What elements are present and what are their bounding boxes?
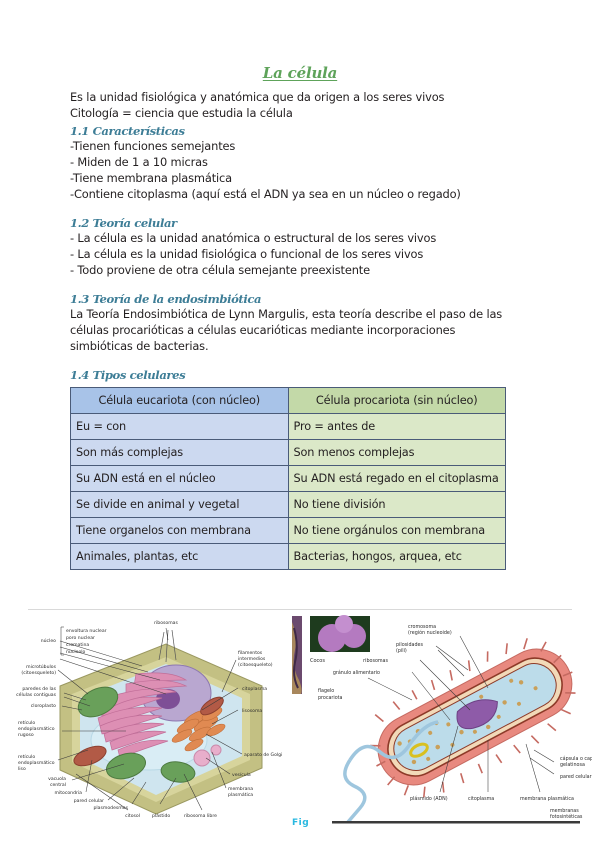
label-cocos: Cocos	[310, 658, 325, 664]
svg-text:procariota: procariota	[318, 695, 343, 701]
section-1-3-paragraph: La Teoría Endosimbiótica de Lynn Marguli…	[70, 306, 518, 355]
section-1-1-line-2: - Miden de 1 a 10 micras	[70, 154, 530, 170]
bacterium-body	[353, 620, 592, 815]
figure-divider-rule	[28, 609, 572, 610]
table-row: Son más complejas Son menos complejas	[71, 439, 506, 465]
svg-text:vacuola: vacuola	[48, 776, 66, 782]
section-heading-1-3: 1.3 Teoría de la endosimbiótica	[70, 292, 530, 306]
table-header-row: Célula eucariota (con núcleo) Célula pro…	[71, 387, 506, 413]
svg-text:(citoesqueleto): (citoesqueleto)	[238, 662, 273, 668]
table-row: Se divide en animal y vegetal No tiene d…	[71, 491, 506, 517]
svg-text:membrana: membrana	[228, 786, 253, 792]
table-cell-eukaryote: Animales, plantas, etc	[71, 543, 289, 569]
svg-text:células contiguas: células contiguas	[16, 691, 56, 698]
section-1-1-line-1: -Tienen funciones semejantes	[70, 138, 530, 154]
table-cell-prokaryote: Son menos complejas	[288, 439, 506, 465]
svg-text:envoltura nuclear: envoltura nuclear	[66, 628, 107, 634]
svg-text:rugoso: rugoso	[18, 732, 34, 738]
intro-line-2: Citología = ciencia que estudia la célul…	[70, 105, 530, 121]
svg-text:citoplasma: citoplasma	[242, 686, 267, 692]
table-cell-prokaryote: Pro = antes de	[288, 413, 506, 439]
vesicle-shape	[194, 750, 210, 766]
table-header-eukaryote: Célula eucariota (con núcleo)	[71, 387, 289, 413]
svg-text:retículo: retículo	[18, 719, 35, 726]
table-row: Eu = con Pro = antes de	[71, 413, 506, 439]
svg-text:microtúbulos: microtúbulos	[26, 663, 57, 670]
table-cell-prokaryote: Bacterias, hongos, arquea, etc	[288, 543, 506, 569]
section-1-2-line-3: - Todo proviene de otra célula semejante…	[70, 262, 530, 278]
svg-text:filamentos: filamentos	[238, 650, 263, 656]
svg-text:pared celular: pared celular	[74, 798, 104, 804]
svg-text:gránulo alimentario: gránulo alimentario	[333, 669, 380, 676]
table-cell-eukaryote: Su ADN está en el núcleo	[71, 465, 289, 491]
svg-text:pared celular: pared celular	[560, 774, 592, 780]
svg-text:citoplasma: citoplasma	[468, 796, 494, 802]
svg-text:central: central	[50, 782, 66, 788]
svg-text:plasmática: plasmática	[228, 791, 253, 798]
section-1-2-line-1: - La célula es la unidad anatómica o est…	[70, 230, 530, 246]
svg-text:fotosintéticas: fotosintéticas	[550, 813, 583, 820]
svg-text:(región nucleoide): (región nucleoide)	[408, 629, 452, 636]
section-heading-1-1: 1.1 Características	[70, 124, 530, 138]
table-cell-eukaryote: Son más complejas	[71, 439, 289, 465]
table-cell-eukaryote: Eu = con	[71, 413, 289, 439]
svg-text:liso: liso	[18, 766, 26, 772]
svg-text:aparato de Golgi: aparato de Golgi	[244, 752, 282, 758]
svg-text:nucleolo: nucleolo	[66, 649, 86, 655]
svg-text:cromosoma: cromosoma	[408, 624, 436, 630]
svg-text:plásmido (ADN): plásmido (ADN)	[410, 795, 448, 802]
label-nucleo: núcleo	[41, 637, 56, 644]
table-row: Su ADN está en el núcleo Su ADN está reg…	[71, 465, 506, 491]
svg-text:flagelo: flagelo	[318, 688, 334, 694]
svg-text:citosol: citosol	[125, 813, 140, 819]
svg-text:ribosomas: ribosomas	[363, 658, 388, 664]
svg-text:(pili): (pili)	[396, 648, 407, 654]
figures-row: núcleo envoltura nuclear poro nuclear cr…	[0, 614, 600, 829]
document-page: La célula Es la unidad fisiológica y ana…	[0, 0, 600, 848]
svg-text:pilosidades: pilosidades	[396, 642, 423, 648]
svg-text:retículo: retículo	[18, 753, 35, 760]
figure-watermark: Fig	[292, 818, 309, 828]
section-heading-1-4: 1.4 Tipos celulares	[70, 368, 530, 382]
svg-text:mitocondria: mitocondria	[54, 790, 82, 796]
svg-text:cromatina: cromatina	[66, 642, 89, 648]
svg-text:plástido: plástido	[152, 812, 170, 819]
page-title: La célula	[70, 64, 530, 82]
table-cell-eukaryote: Tiene organelos con membrana	[71, 517, 289, 543]
prokaryotic-cell-figure: Cocos	[292, 614, 592, 829]
svg-text:poro nuclear: poro nuclear	[66, 635, 95, 641]
svg-text:lisosoma: lisosoma	[242, 708, 262, 714]
svg-text:(citoesqueleto): (citoesqueleto)	[21, 670, 56, 676]
section-heading-1-2: 1.2 Teoría celular	[70, 216, 530, 230]
svg-text:endoplasmático: endoplasmático	[18, 759, 55, 766]
table-row: Tiene organelos con membrana No tiene or…	[71, 517, 506, 543]
table-row: Animales, plantas, etc Bacterias, hongos…	[71, 543, 506, 569]
svg-text:intermedios: intermedios	[238, 656, 266, 662]
svg-text:paredes de las: paredes de las	[22, 686, 56, 692]
section-1-1-line-3: -Tiene membrana plasmática	[70, 170, 530, 186]
svg-text:membranas: membranas	[550, 808, 579, 814]
svg-text:membrana plasmática: membrana plasmática	[520, 795, 574, 802]
section-1-1-line-4: -Contiene citoplasma (aquí está el ADN y…	[70, 186, 530, 202]
svg-text:endoplasmático: endoplasmático	[18, 725, 55, 732]
svg-text:ribosoma libre: ribosoma libre	[184, 813, 217, 819]
table-cell-prokaryote: Su ADN está regado en el citoplasma	[288, 465, 506, 491]
svg-text:vesícula: vesícula	[232, 771, 251, 778]
table-cell-eukaryote: Se divide en animal y vegetal	[71, 491, 289, 517]
cell-types-table: Célula eucariota (con núcleo) Célula pro…	[70, 387, 506, 570]
intro-line-1: Es la unidad fisiológica y anatómica que…	[70, 89, 530, 105]
table-header-prokaryote: Célula procariota (sin núcleo)	[288, 387, 506, 413]
svg-text:gelatinosa: gelatinosa	[560, 762, 585, 768]
section-1-2-line-2: - La célula es la unidad fisiológica o f…	[70, 246, 530, 262]
table-cell-prokaryote: No tiene orgánulos con membrana	[288, 517, 506, 543]
svg-text:ribosomas: ribosomas	[154, 620, 178, 626]
svg-text:cápsula o capa: cápsula o capa	[560, 755, 592, 762]
eukaryotic-cell-figure: núcleo envoltura nuclear poro nuclear cr…	[16, 614, 294, 829]
svg-text:cloroplasto: cloroplasto	[31, 703, 56, 709]
svg-text:plasmodesmos: plasmodesmos	[93, 805, 128, 811]
figure-baseline-rule	[332, 821, 580, 824]
table-cell-prokaryote: No tiene división	[288, 491, 506, 517]
document-body: La célula Es la unidad fisiológica y ana…	[70, 64, 530, 570]
